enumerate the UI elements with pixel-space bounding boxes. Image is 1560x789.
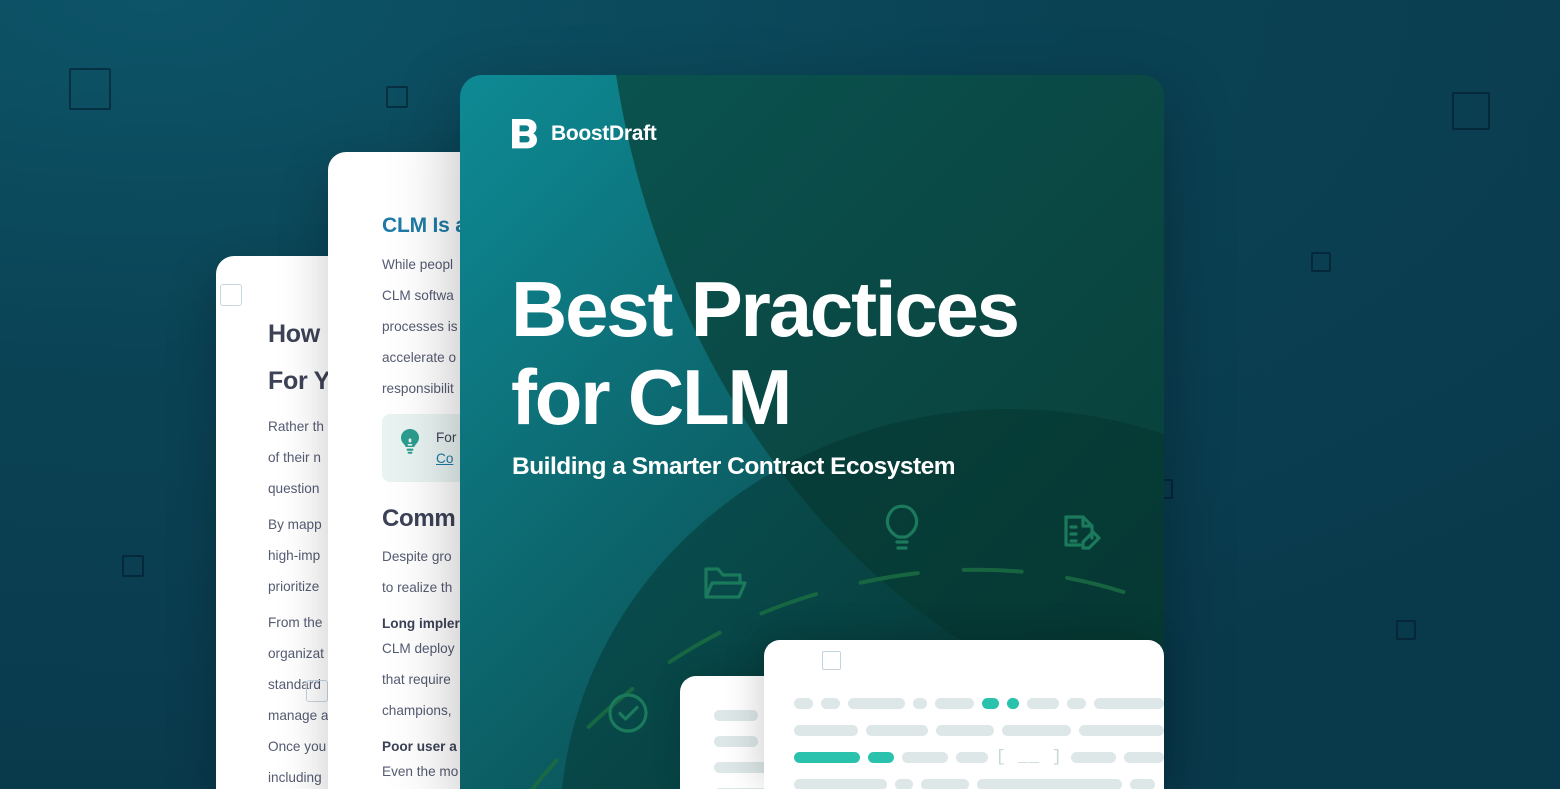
skeleton-bracket-token: [ __ ] (996, 752, 1063, 763)
tip-text: For (436, 430, 456, 445)
bg-square-2 (386, 86, 408, 108)
boostdraft-logo-icon (512, 119, 540, 149)
folder-open-icon (706, 569, 745, 597)
tip-link[interactable]: Co (436, 448, 456, 469)
skeleton-bar (935, 698, 974, 709)
skeleton-bar (913, 698, 926, 709)
skeleton-bar (1027, 698, 1059, 709)
skeleton-bar (794, 779, 887, 789)
lightbulb-icon (887, 506, 916, 548)
check-circle-icon (610, 695, 646, 731)
bg-square-5 (122, 555, 144, 577)
bg-square-4 (1452, 92, 1490, 130)
skeleton-bar-accent (1007, 698, 1019, 709)
skeleton-bar (1130, 779, 1155, 789)
hero-title-line-1: Best Practices (511, 265, 1018, 353)
skeleton-bar (1094, 698, 1164, 709)
skeleton-row (794, 779, 1164, 789)
skeleton-bar-accent (982, 698, 999, 709)
skeleton-bar (921, 779, 969, 789)
skeleton-bar (848, 698, 905, 709)
bg-square-1 (69, 68, 111, 110)
skeleton-bar (1071, 752, 1117, 763)
skeleton-bar-accent (794, 752, 860, 763)
skeleton-bar (1124, 752, 1164, 763)
skeleton-bar (794, 725, 858, 736)
skeleton-bar (1002, 725, 1071, 736)
skeleton-bar (895, 779, 913, 789)
doc-marker-square (306, 680, 328, 702)
skeleton-bar (936, 725, 994, 736)
skeleton-bar-accent (868, 752, 894, 763)
document-edit-icon (1066, 517, 1099, 548)
skeleton-bar (821, 698, 840, 709)
brand-logo[interactable]: BoostDraft (512, 119, 657, 149)
skeleton-bar (714, 710, 758, 721)
skeleton-bar (866, 725, 928, 736)
doc-marker-square (220, 284, 242, 306)
skeleton-bar (714, 736, 758, 747)
hero-subtitle: Building a Smarter Contract Ecosystem (512, 453, 955, 481)
skeleton-marker-square (822, 651, 841, 670)
skeleton-bar (956, 752, 987, 763)
skeleton-row (794, 725, 1164, 736)
skeleton-bar (1067, 698, 1086, 709)
skeleton-bar (1079, 725, 1164, 736)
bg-square-6 (1396, 620, 1416, 640)
bg-square-3 (1311, 252, 1331, 272)
skeleton-bar (794, 698, 813, 709)
skeleton-row: [ __ ] (794, 752, 1164, 763)
hero-title: Best Practices for CLM (511, 265, 1018, 441)
lightbulb-icon (398, 427, 422, 455)
hero-title-line-2: for CLM (511, 353, 1018, 441)
brand-name: BoostDraft (551, 122, 657, 146)
skeleton-bar (977, 779, 1122, 789)
skeleton-bar (902, 752, 948, 763)
skeleton-row (794, 698, 1164, 709)
